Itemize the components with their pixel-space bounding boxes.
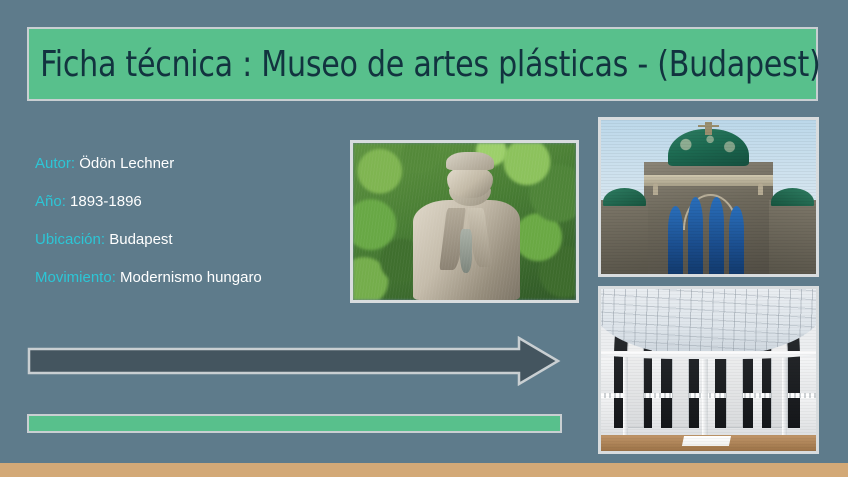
page-title: Ficha técnica : Museo de artes plásticas… xyxy=(29,44,820,85)
green-divider-bar xyxy=(27,414,562,433)
facade-image xyxy=(601,120,816,274)
info-value-autor: Ödön Lechner xyxy=(79,155,174,172)
info-label-ubicacion: Ubicación: xyxy=(35,231,105,248)
bottom-accent-strip xyxy=(0,463,848,477)
info-row-ubicacion: Ubicación: Budapest xyxy=(35,231,335,249)
atrium-texture-overlay xyxy=(601,289,816,451)
atrium-image xyxy=(601,289,816,451)
photo-museum-facade xyxy=(598,117,819,277)
facade-texture-overlay xyxy=(601,120,816,274)
info-label-ano: Año: xyxy=(35,193,66,210)
info-label-movimiento: Movimiento: xyxy=(35,269,116,286)
info-value-movimiento: Modernismo hungaro xyxy=(120,269,262,286)
photo-statue-odon-lechner xyxy=(350,140,579,303)
info-label-autor: Autor: xyxy=(35,155,75,172)
info-row-autor: Autor: Ödön Lechner xyxy=(35,155,335,173)
statue-texture-overlay xyxy=(353,143,576,300)
info-list: Autor: Ödön Lechner Año: 1893-1896 Ubica… xyxy=(35,155,335,307)
title-banner: Ficha técnica : Museo de artes plásticas… xyxy=(27,27,818,101)
statue-image xyxy=(353,143,576,300)
info-value-ano: 1893-1896 xyxy=(70,193,142,210)
info-row-ano: Año: 1893-1896 xyxy=(35,193,335,211)
photo-museum-atrium xyxy=(598,286,819,454)
slide-canvas: Ficha técnica : Museo de artes plásticas… xyxy=(0,0,848,477)
info-row-movimiento: Movimiento: Modernismo hungaro xyxy=(35,269,335,287)
right-arrow-icon xyxy=(27,336,561,386)
info-value-ubicacion: Budapest xyxy=(109,231,172,248)
right-arrow-shape xyxy=(27,336,561,386)
